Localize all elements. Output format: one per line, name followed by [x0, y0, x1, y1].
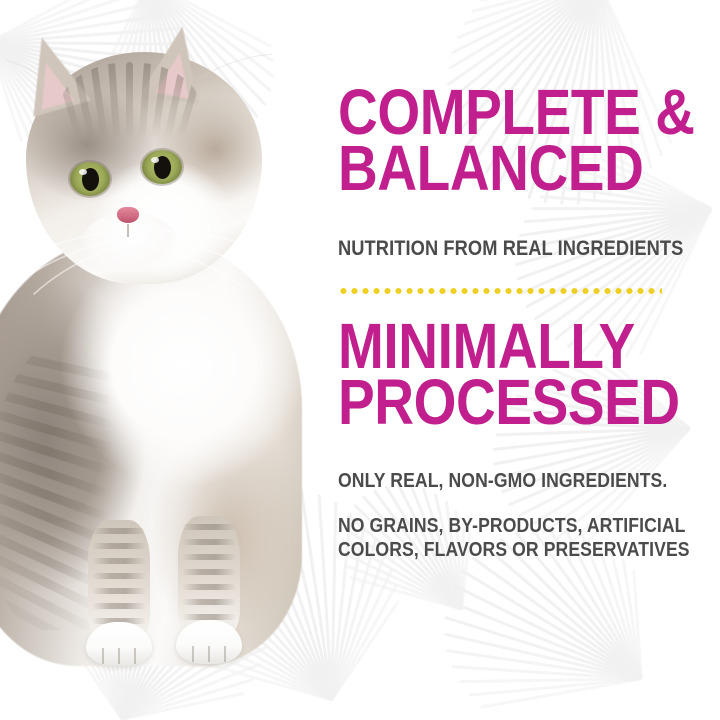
promo-banner: COMPLETE & BALANCED NUTRITION FROM REAL …	[0, 0, 720, 720]
cat-leg-stripe	[92, 528, 146, 534]
cat-front-leg-right	[178, 516, 240, 636]
cat-leg-stripe	[182, 539, 236, 545]
cat-whiskers	[0, 0, 330, 330]
cat-paw-toe	[118, 648, 120, 664]
cat-paw-toe	[192, 646, 194, 662]
fineprint-no-grains: NO GRAINS, BY-PRODUCTS, ARTIFICIAL COLOR…	[338, 515, 690, 562]
fineprint-non-gmo: ONLY REAL, NON-GMO INGREDIENTS.	[338, 470, 667, 494]
cat-leg-stripe	[92, 573, 146, 579]
cat-paw-left	[86, 622, 152, 666]
cat-leg-stripe	[92, 558, 146, 564]
cat-leg-stripe	[92, 588, 146, 594]
cat-paw-toe	[224, 646, 226, 662]
headline-minimal-line2: PROCESSED	[338, 374, 680, 430]
cat-paw-toe	[134, 648, 136, 664]
cat-leg-stripe	[92, 543, 146, 549]
cat-paw-right	[176, 620, 242, 664]
fineprint-no-grains-line1: NO GRAINS, BY-PRODUCTS, ARTIFICIAL	[338, 515, 690, 539]
cat-leg-stripe	[92, 603, 146, 609]
headline-complete-balanced: COMPLETE & BALANCED	[338, 84, 695, 197]
headline-minimally-processed: MINIMALLY PROCESSED	[338, 318, 680, 431]
cat-leg-stripe	[182, 569, 236, 575]
fineprint-no-grains-line2: COLORS, FLAVORS OR PRESERVATIVES	[338, 539, 690, 563]
dotted-divider	[338, 288, 662, 294]
text-column: COMPLETE & BALANCED NUTRITION FROM REAL …	[338, 0, 698, 720]
cat-paw-toe	[102, 648, 104, 664]
cat-leg-stripe	[182, 584, 236, 590]
palm-frond	[711, 210, 712, 211]
headline-complete-line2: BALANCED	[338, 140, 695, 196]
cat-photo	[0, 0, 330, 720]
subhead-nutrition: NUTRITION FROM REAL INGREDIENTS	[338, 238, 683, 259]
cat-leg-stripe	[182, 599, 236, 605]
cat-leg-stripe	[182, 524, 236, 530]
cat-leg-stripe	[182, 554, 236, 560]
cat-paw-toe	[208, 646, 210, 662]
